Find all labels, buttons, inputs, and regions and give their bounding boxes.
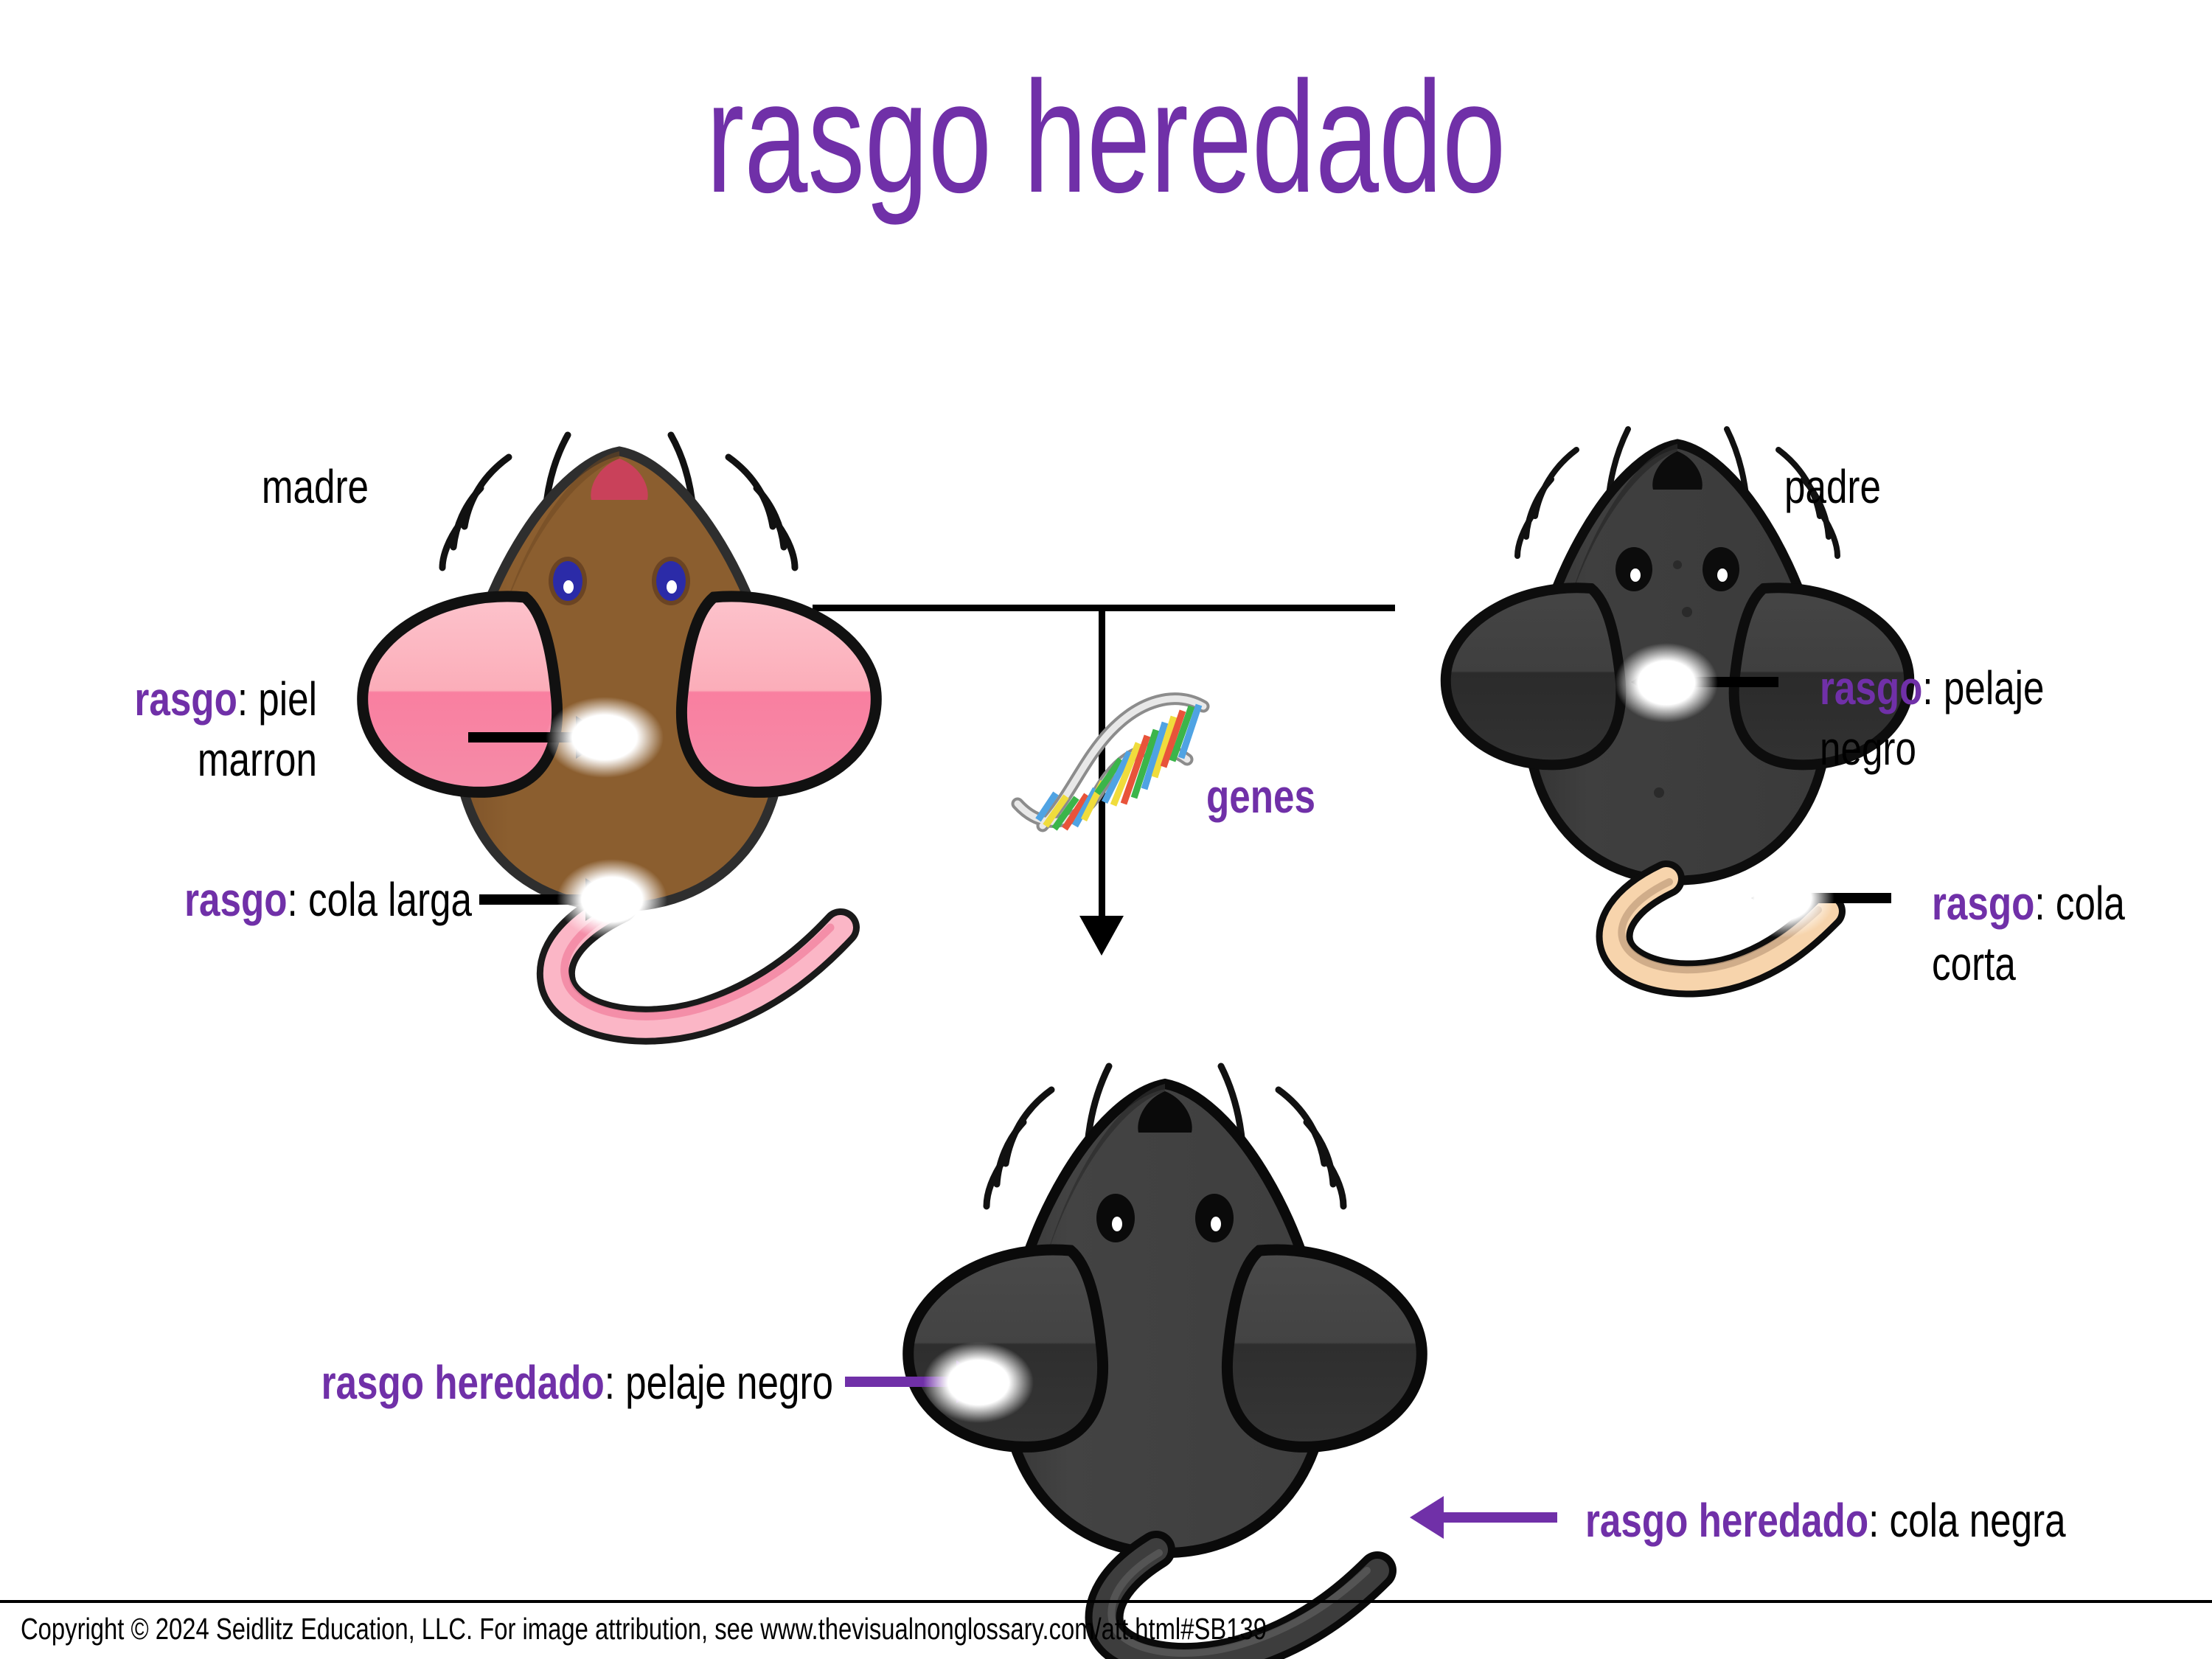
offspring-trait-1-arrow-glow (923, 1342, 1034, 1423)
trait-separator: : (605, 1356, 625, 1409)
father-trait-2-line2: corta (1932, 934, 2212, 995)
father-trait-1-line2: negro (1820, 719, 2150, 779)
father-trait-2-line1: rasgo: cola (1932, 874, 2212, 934)
trait-term: rasgo heredado (321, 1356, 605, 1409)
trait-separator: : (237, 672, 258, 726)
trait-value: cola (2056, 877, 2125, 930)
trait-value: pelaje (1944, 661, 2045, 714)
trait-value: piel (258, 672, 317, 726)
trait-value: pelaje negro (625, 1356, 833, 1409)
mother-trait-2-arrow-glow (557, 859, 667, 940)
trait-value: cola larga (308, 873, 472, 926)
trait-term: rasgo (1820, 661, 1922, 714)
pedigree-arrow-head-icon (1079, 916, 1124, 956)
father-trait-2-arrow-glow (1731, 858, 1834, 938)
copyright-text: Copyright © 2024 Seidlitz Education, LLC… (21, 1612, 1267, 1646)
offspring-mouse-illustration (877, 1010, 1460, 1644)
genes-label: genes (1178, 767, 1343, 827)
father-name-label: padre (1784, 457, 2079, 518)
father-trait-1-arrow-glow (1615, 643, 1718, 723)
page-title: rasgo heredado (310, 58, 1902, 216)
trait-separator: : (2034, 877, 2055, 930)
trait-term: rasgo (1932, 877, 2034, 930)
mother-name-label: madre (74, 457, 369, 518)
trait-term: rasgo (184, 873, 287, 926)
mother-trait-1-arrow-glow (546, 697, 664, 778)
trait-separator: : (288, 873, 308, 926)
offspring-trait-2-label: rasgo heredado: cola negra (1585, 1491, 2104, 1551)
offspring-trait-1-label: rasgo heredado: pelaje negro (167, 1353, 833, 1413)
father-trait-1-line1: rasgo: pelaje (1820, 658, 2150, 719)
trait-term: rasgo heredado (1585, 1494, 1868, 1547)
footer-divider (0, 1600, 2212, 1603)
mother-trait-1-line2: marron (63, 730, 317, 790)
mother-trait-2-label: rasgo: cola larga (94, 870, 472, 931)
trait-separator: : (1922, 661, 1943, 714)
trait-separator: : (1868, 1494, 1889, 1547)
trait-value: cola negra (1890, 1494, 2066, 1547)
trait-term: rasgo (134, 672, 237, 726)
diagram-canvas: rasgo heredado (0, 0, 2212, 1659)
mother-trait-1-line1: rasgo: piel (63, 669, 317, 730)
